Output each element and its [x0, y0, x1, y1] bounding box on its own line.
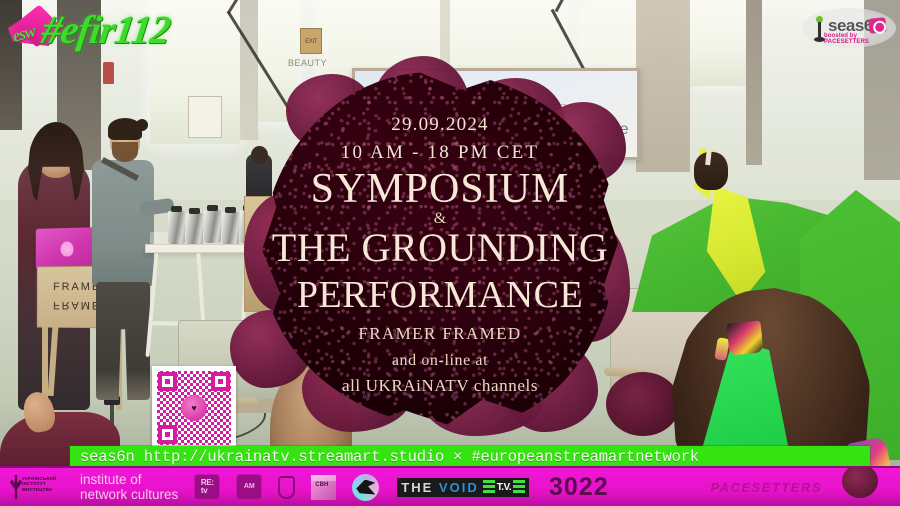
coffee-carafe	[186, 213, 203, 246]
poster-channels: all UKRAiNATV channels	[262, 376, 618, 396]
retv-logo[interactable]: RE: tv	[194, 474, 220, 500]
poster-heading-2: THE GROUNDING	[262, 228, 618, 268]
qr-finder-icon	[158, 372, 177, 391]
qr-modules: ♥	[157, 371, 231, 445]
sponsor-bar-flower	[842, 468, 878, 498]
fire-extinguisher	[103, 62, 114, 84]
qr-finder-icon	[211, 372, 230, 391]
window	[690, 0, 746, 86]
poster-overlay: 29.09.2024 10 AM - 18 PM CET SYMPOSIUM &…	[262, 72, 618, 428]
apple-logo-icon	[61, 241, 74, 256]
pillar	[746, 0, 762, 165]
seas6n-logo: seas6n boosted by PACESETTERS	[802, 8, 896, 48]
stream-url-ticker[interactable]: seas6n http://ukrainatv.streamart.studio…	[70, 446, 870, 468]
poster-online: and on-line at	[262, 352, 618, 370]
attendee-beard	[112, 142, 138, 162]
poster-time: 10 AM - 18 PM CET	[262, 142, 618, 164]
seas6n-subtitle: boosted by PACESETTERS	[824, 33, 896, 45]
sponsor-number[interactable]: 3022	[549, 473, 609, 502]
qr-code[interactable]: ♥	[152, 366, 236, 450]
qr-center-logo: ♥	[181, 395, 207, 421]
stream-frame: EXIT BEAUTY itage FRAMER FRAMED	[0, 0, 900, 506]
stream-url-text: seas6n http://ukrainatv.streamart.studio…	[70, 448, 699, 466]
performer-mask	[726, 320, 763, 355]
void-bars-icon	[513, 480, 525, 495]
institute-network-cultures-logo[interactable]: institute of network cultures	[80, 472, 178, 502]
wall-label: BEAUTY	[288, 58, 327, 68]
sponsor-bar: УКРАЇНСЬКИЙ ІНСТИТУТ МИСТЕЦТВА institute…	[0, 468, 900, 506]
void-bars-icon	[483, 480, 495, 495]
pacesetters-badge-icon	[868, 17, 886, 34]
ukrainian-institute-label: УКРАЇНСЬКИЙ ІНСТИТУТ МИСТЕЦТВА	[22, 476, 64, 492]
bird-icon	[356, 480, 375, 495]
void-word-2: VOID	[439, 480, 479, 495]
inc-line-1: institute of	[80, 472, 178, 487]
void-wordmark: THE VOID	[401, 480, 478, 495]
qr-finder-icon	[158, 425, 177, 444]
pacesetters-label[interactable]: PACESETTERS	[710, 480, 822, 495]
poster-date: 29.09.2024	[262, 114, 618, 136]
ukrainian-institute-logo[interactable]: УКРАЇНСЬКИЙ ІНСТИТУТ МИСТЕЦТВА	[8, 473, 64, 501]
coffee-carafe	[204, 210, 221, 243]
stream-watermark-left: esw #efir112	[6, 4, 186, 56]
poster-text-block: 29.09.2024 10 AM - 18 PM CET SYMPOSIUM &…	[262, 72, 618, 428]
poster-heading-3: PERFORMANCE	[262, 276, 618, 314]
inc-line-2: network cultures	[80, 487, 178, 502]
retv-label: RE: tv	[201, 479, 214, 495]
void-word-1: THE	[401, 480, 433, 495]
trident-icon	[10, 475, 22, 499]
seas6n-logo-row: seas6n boosted by PACESETTERS	[802, 8, 896, 48]
pillar	[636, 0, 690, 172]
poster-heading-1: SYMPOSIUM	[262, 168, 618, 210]
void-tv-label: T.V.	[497, 482, 511, 493]
retv-line-2: tv	[201, 486, 208, 495]
bird-circle-logo[interactable]	[352, 474, 379, 501]
attendee-hair-bun	[136, 119, 148, 131]
poster-venue: FRAMER FRAMED	[262, 324, 618, 344]
coffee-carafe	[168, 211, 185, 244]
cube-logo-icon[interactable]	[311, 475, 336, 500]
hashtag-watermark: #efir112	[39, 6, 173, 53]
am-logo[interactable]: AM	[236, 474, 262, 500]
pillar	[240, 0, 258, 140]
performer-head	[694, 152, 728, 190]
shield-icon[interactable]	[278, 476, 295, 499]
wall-poster	[188, 96, 222, 138]
attendee-body	[92, 160, 154, 286]
the-void-tv-logo[interactable]: THE VOID T.V.	[397, 478, 529, 497]
am-label: AM	[244, 483, 255, 491]
exit-sign: EXIT	[300, 28, 322, 54]
coffee-carafe	[222, 212, 239, 245]
